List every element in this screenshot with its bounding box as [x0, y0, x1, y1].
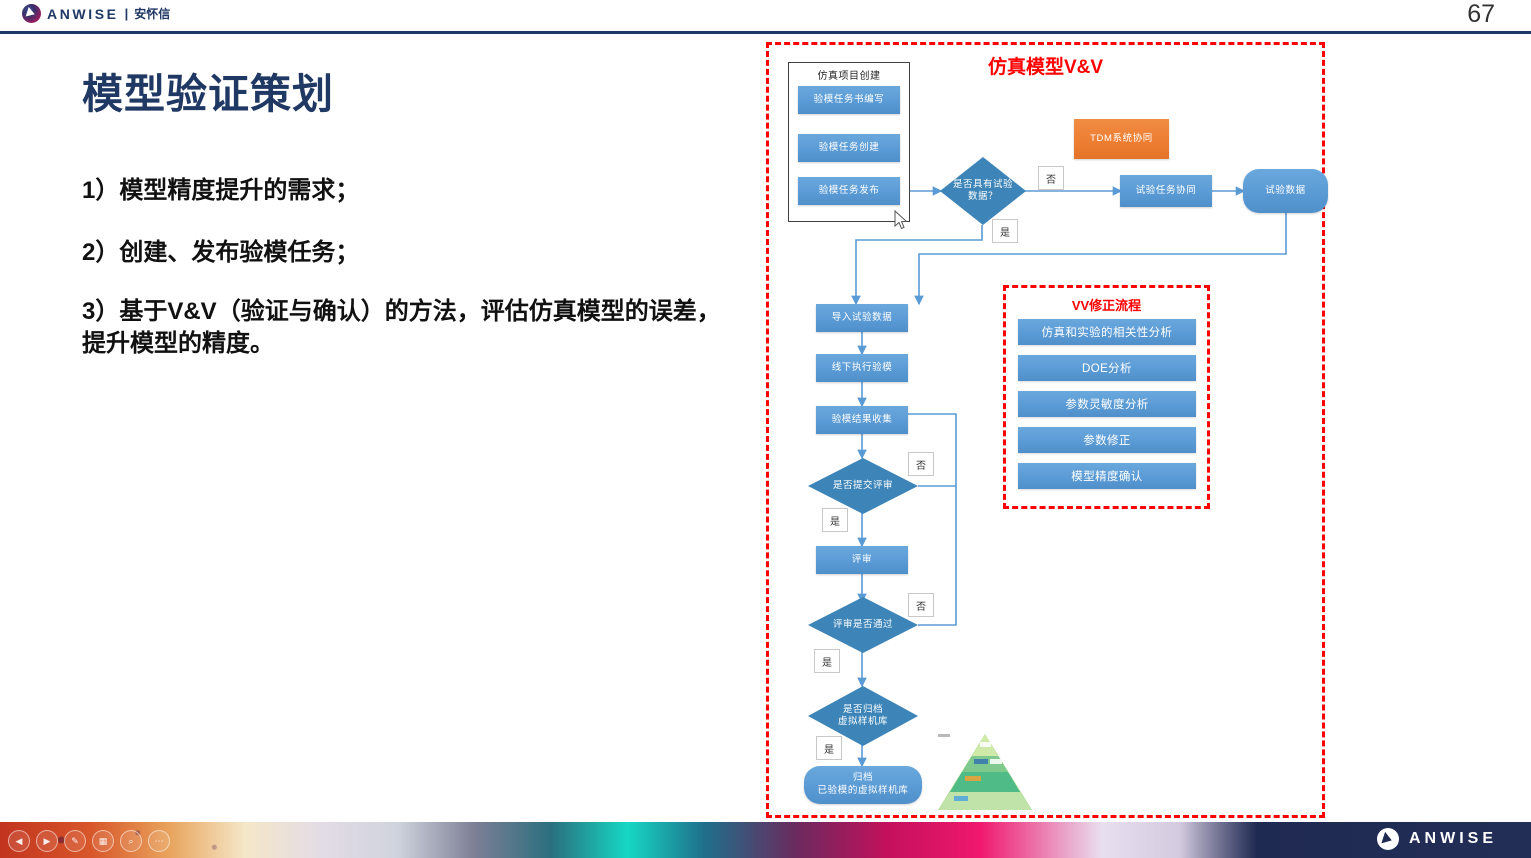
anwise-logo: ANWISE | 安怀信 — [22, 4, 170, 23]
footer-anwise-logo: ANWISE — [1377, 828, 1497, 850]
footer-brand-label: ANWISE — [1409, 830, 1497, 848]
pen-tool-icon[interactable]: ✎ — [64, 830, 86, 852]
edge-label-no-1: 否 — [1038, 166, 1064, 190]
node-review[interactable]: 评审 — [816, 546, 908, 574]
mouse-cursor-icon — [894, 210, 908, 230]
node-task-write[interactable]: 验模任务书编写 — [798, 86, 900, 114]
vv-item-correlation[interactable]: 仿真和实验的相关性分析 — [1018, 319, 1196, 345]
decision-has-test-data-label: 是否具有试验 数据？ — [953, 179, 1013, 204]
vv-item-doe[interactable]: DOE分析 — [1018, 355, 1196, 381]
edge-label-no-2: 否 — [908, 452, 934, 476]
brand-name-cn-label: 安怀信 — [134, 5, 170, 22]
slide-overview-icon[interactable]: ▦ — [92, 830, 114, 852]
node-task-publish[interactable]: 验模任务发布 — [798, 177, 900, 205]
footer-anwise-mark-icon — [1377, 828, 1399, 850]
vv-item-sensitivity[interactable]: 参数灵敏度分析 — [1018, 391, 1196, 417]
node-test-data[interactable]: 试验数据 — [1243, 169, 1328, 213]
node-task-create[interactable]: 验模任务创建 — [798, 134, 900, 162]
node-collect-results[interactable]: 验模结果收集 — [816, 406, 908, 434]
decision-archive-label: 是否归档 虚拟样机库 — [838, 704, 888, 729]
zoom-in-icon[interactable]: ⌕ — [120, 830, 142, 852]
edge-label-yes-3: 是 — [814, 649, 840, 673]
edge-label-yes-2: 是 — [822, 508, 848, 532]
anwise-mark-icon — [22, 4, 41, 23]
bullet-item-3: 3）基于V&V（验证与确认）的方法，评估仿真模型的误差，提升模型的精度。 — [82, 296, 742, 360]
edge-label-yes-4: 是 — [816, 736, 842, 760]
node-offline-verify[interactable]: 线下执行验模 — [816, 354, 908, 382]
previous-slide-icon[interactable]: ◀ — [8, 830, 30, 852]
node-test-task-collab[interactable]: 试验任务协同 — [1120, 175, 1212, 207]
page-number: 67 — [1467, 0, 1495, 29]
vv-item-param-fix[interactable]: 参数修正 — [1018, 427, 1196, 453]
bullet-item-1: 1）模型精度提升的需求； — [82, 175, 742, 207]
vv-item-accuracy-confirm[interactable]: 模型精度确认 — [1018, 463, 1196, 489]
top-header-bar: ANWISE | 安怀信 67 — [0, 0, 1531, 31]
header-divider — [0, 31, 1531, 34]
brand-name-label: ANWISE — [47, 6, 119, 22]
pyramid-graphic-icon — [936, 732, 1034, 812]
node-archive[interactable]: 归档 已验模的虚拟样机库 — [804, 766, 922, 804]
node-archive-label: 归档 已验模的虚拟样机库 — [818, 772, 909, 798]
bullet-item-2: 2）创建、发布验模任务； — [82, 237, 742, 269]
page-title: 模型验证策划 — [82, 60, 334, 120]
vv-panel-title: VV修正流程 — [1003, 295, 1210, 314]
more-options-icon[interactable]: ⋯ — [148, 830, 170, 852]
node-import-test-data[interactable]: 导入试验数据 — [816, 304, 908, 332]
next-slide-icon[interactable]: ▶ — [36, 830, 58, 852]
node-tdm-collab[interactable]: TDM系统协同 — [1074, 119, 1169, 159]
group-box-title: 仿真项目创建 — [788, 67, 910, 82]
edge-label-no-3: 否 — [908, 593, 934, 617]
edge-label-yes-1: 是 — [992, 219, 1018, 243]
brand-separator: | — [125, 6, 129, 21]
vv-flowchart-diagram: 仿真模型V&V — [766, 42, 1325, 818]
